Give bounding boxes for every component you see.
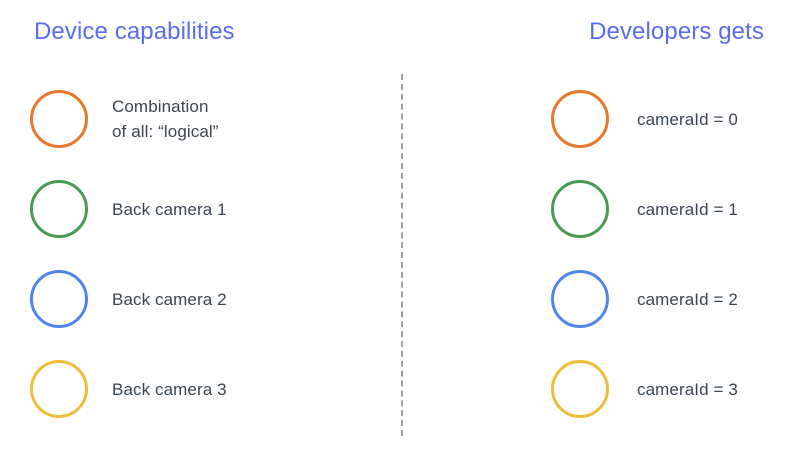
list-item: Combination of all: “logical” <box>30 90 219 148</box>
list-item: cameraId = 0 <box>551 90 738 148</box>
circle-orange <box>551 90 609 148</box>
circle-blue <box>551 270 609 328</box>
list-item-label: Back camera 3 <box>112 377 227 402</box>
left-column: Combination of all: “logical” Back camer… <box>0 0 360 467</box>
right-column: cameraId = 0 cameraId = 1 cameraId = 2 c… <box>440 0 800 467</box>
list-item: cameraId = 2 <box>551 270 738 328</box>
circle-yellow <box>30 360 88 418</box>
list-item: Back camera 1 <box>30 180 227 238</box>
list-item-label: Combination of all: “logical” <box>112 94 219 144</box>
list-item-label: cameraId = 0 <box>637 107 738 132</box>
list-item-label: Back camera 1 <box>112 197 227 222</box>
list-item-label: Back camera 2 <box>112 287 227 312</box>
diagram-canvas: Device capabilities Developers gets Comb… <box>0 0 800 467</box>
list-item: cameraId = 1 <box>551 180 738 238</box>
circle-orange <box>30 90 88 148</box>
circle-yellow <box>551 360 609 418</box>
vertical-dashed-divider <box>401 74 403 436</box>
list-item-label: cameraId = 3 <box>637 377 738 402</box>
circle-blue <box>30 270 88 328</box>
list-item: Back camera 2 <box>30 270 227 328</box>
list-item: cameraId = 3 <box>551 360 738 418</box>
circle-green <box>30 180 88 238</box>
list-item-label: cameraId = 2 <box>637 287 738 312</box>
list-item: Back camera 3 <box>30 360 227 418</box>
list-item-label: cameraId = 1 <box>637 197 738 222</box>
circle-green <box>551 180 609 238</box>
